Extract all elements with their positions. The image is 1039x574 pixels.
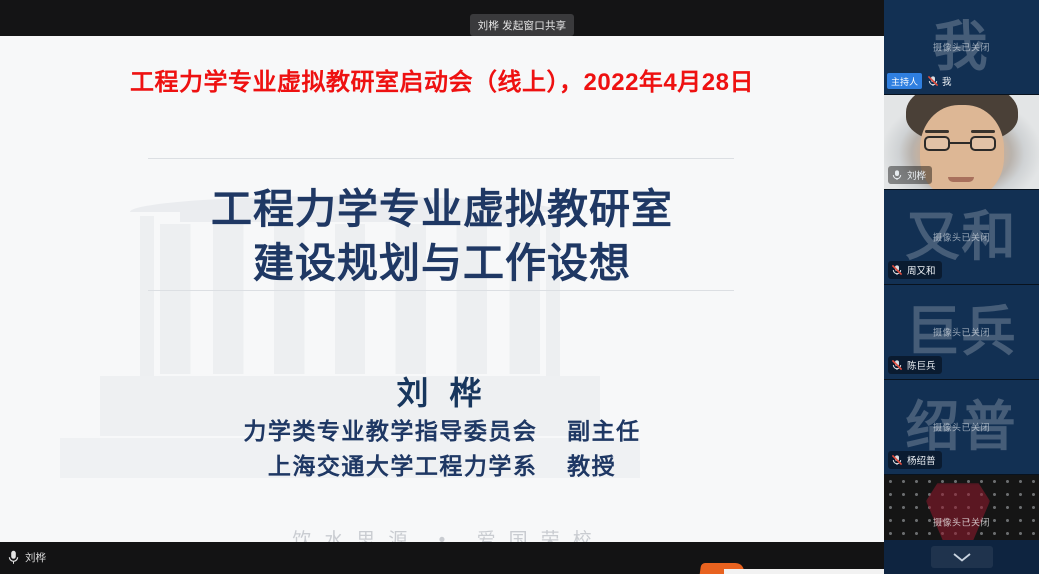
microphone-muted-icon [927,75,939,87]
slide-main-title: 工程力学专业虚拟教研室 建设规划与工作设想 [0,182,884,290]
slide-event-header: 工程力学专业虚拟教研室启动会（线上），2022年4月28日 [0,62,884,97]
presenter-affiliations: 力学类专业教学指导委员会 副主任 上海交通大学工程力学系 教授 [0,414,884,483]
participant-name-chip: 杨绍普 [888,451,942,469]
filmstrip-footer [884,540,1039,574]
affiliation-1-role: 副主任 [567,418,641,444]
self-audio-name: 刘桦 [25,550,46,565]
camera-off-label: 摄像头已关闭 [884,421,1039,434]
screen-share-region: 刘桦 发起窗口共享 工程力学专业虚拟教研室启动会（线上），2022年4月28日 … [0,0,884,574]
microphone-muted-icon [891,264,903,276]
university-motto: 饮水思源 • 爱国荣校 [0,525,884,542]
affiliation-2-role: 教授 [567,453,616,479]
microphone-muted-icon [891,359,903,371]
taskbar-white-strip [724,569,884,574]
camera-off-label: 摄像头已关闭 [884,516,1039,529]
scroll-down-button[interactable] [931,546,993,568]
presenter-name: 刘 桦 [0,368,884,414]
participant-tile-5[interactable]: 绍普 摄像头已关闭 杨绍普 [884,380,1039,475]
participant-name-chip: 刘桦 [888,166,932,184]
divider-bottom [148,290,734,291]
camera-off-label: 摄像头已关闭 [884,326,1039,339]
participant-name: 陈巨兵 [907,358,936,372]
participant-name-chip: 主持人 我 [887,73,952,89]
share-status-banner: 刘桦 发起窗口共享 [470,14,574,36]
participant-tile-video[interactable]: 刘桦 [884,95,1039,190]
presentation-slide: 工程力学专业虚拟教研室启动会（线上），2022年4月28日 工程力学专业虚拟教研… [0,36,884,542]
participant-name-chip: 周又和 [888,261,942,279]
participant-name: 杨绍普 [907,453,936,467]
participant-filmstrip: 我 摄像头已关闭 主持人 我 [884,0,1039,574]
participant-name-chip: 陈巨兵 [888,356,942,374]
share-status-text: 刘桦 发起窗口共享 [478,18,567,33]
affiliation-line-2: 上海交通大学工程力学系 教授 [0,449,884,484]
camera-off-label: 摄像头已关闭 [884,231,1039,244]
microphone-muted-icon [891,454,903,466]
slide-title-line-1: 工程力学专业虚拟教研室 [0,182,884,236]
host-badge: 主持人 [887,73,922,89]
participant-tile-me[interactable]: 我 摄像头已关闭 主持人 我 [884,0,1039,95]
zoom-meeting-window: 刘桦 发起窗口共享 工程力学专业虚拟教研室启动会（线上），2022年4月28日 … [0,0,1039,574]
slide-title-line-2: 建设规划与工作设想 [0,236,884,290]
divider-top [148,158,734,159]
affiliation-1-org: 力学类专业教学指导委员会 [243,418,537,444]
self-audio-indicator[interactable]: 刘桦 [8,550,46,565]
camera-off-label: 摄像头已关闭 [884,41,1039,54]
affiliation-2-org: 上海交通大学工程力学系 [268,453,538,479]
participant-tile-4[interactable]: 巨兵 摄像头已关闭 陈巨兵 [884,285,1039,380]
participant-name: 周又和 [907,263,936,277]
affiliation-line-1: 力学类专业教学指导委员会 副主任 [0,414,884,449]
microphone-icon [891,169,903,181]
chevron-down-icon [951,551,973,563]
participant-name: 刘桦 [907,168,926,182]
participant-name: 我 [942,74,952,88]
microphone-icon [8,550,19,565]
participant-tile-3[interactable]: 又和 摄像头已关闭 周又和 [884,190,1039,285]
